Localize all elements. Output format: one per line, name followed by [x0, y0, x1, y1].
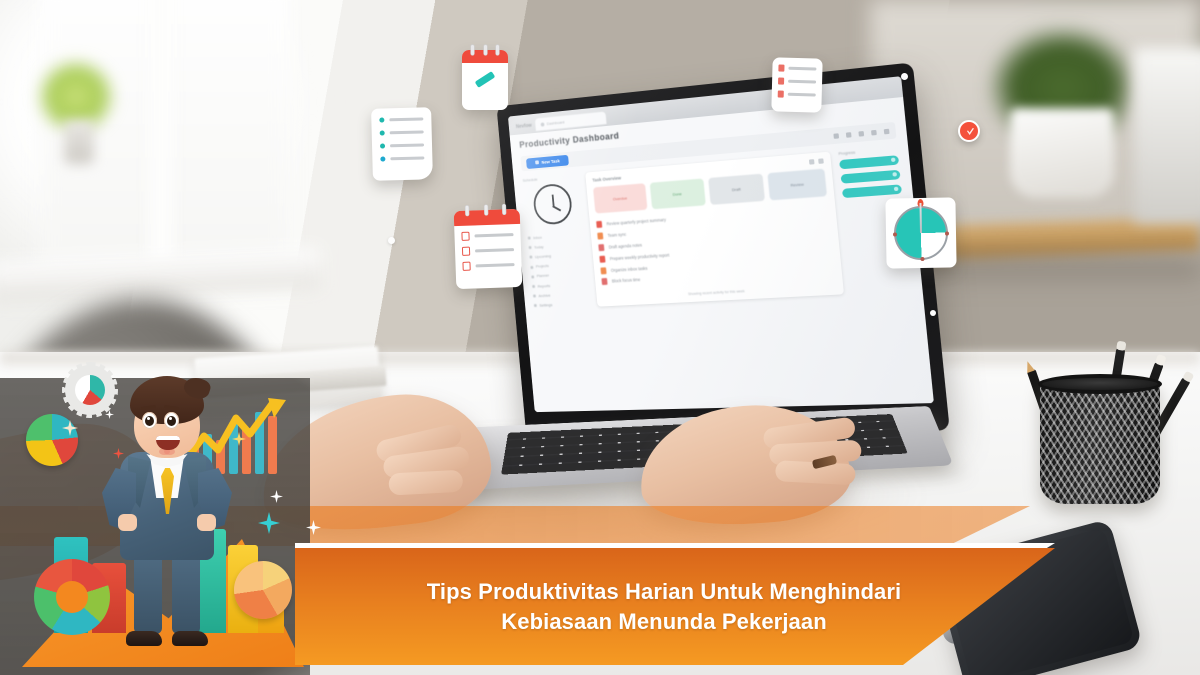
picture-frame: [1134, 48, 1200, 223]
mascot-legs: [132, 554, 202, 636]
cup-body: [1040, 380, 1160, 504]
task-label: Draft agenda notes: [609, 242, 643, 249]
bullet-icon: [380, 130, 385, 135]
tab-favicon-icon: [540, 122, 544, 126]
cup-rim: [1038, 374, 1162, 394]
target-dot: [945, 232, 949, 236]
sidebar: Schedule Inbox Today Upcoming Projects P…: [522, 173, 590, 310]
sidebar-nav: Inbox Today Upcoming Projects Planner Re…: [527, 229, 590, 310]
bullet-icon: [380, 156, 385, 161]
task-icon: [596, 221, 602, 228]
progress-bar: [842, 184, 902, 198]
line: [788, 67, 816, 70]
mascot-shoe: [172, 631, 208, 646]
filter-icon[interactable]: [833, 133, 839, 139]
bullet-icon: [380, 143, 385, 148]
laptop-lid: Nevfow Dashboard Productivity Dashboard …: [496, 62, 949, 437]
target-dot: [920, 257, 924, 261]
mascot-eye: [142, 412, 157, 429]
mesh-pencil-cup: [1040, 352, 1160, 504]
list-item: [778, 91, 816, 99]
expand-icon[interactable]: [809, 159, 815, 165]
task-icon: [599, 255, 605, 262]
more-icon[interactable]: [884, 128, 890, 134]
task-label: Prepare weekly productivity report: [610, 252, 670, 261]
donut-chart: [34, 559, 110, 635]
calendar-rings: [465, 204, 505, 215]
target-dot: [893, 232, 897, 236]
stat-overdue[interactable]: Overdue: [593, 183, 647, 213]
plus-icon: [535, 160, 539, 164]
windowsill-plant: [36, 58, 116, 128]
check-badge-icon: [958, 120, 980, 142]
line: [475, 248, 514, 252]
card-title: Task Overview: [592, 175, 621, 182]
mascot-leg: [134, 554, 162, 634]
task-label: Block focus time: [612, 277, 641, 283]
target-card: [885, 197, 956, 268]
mascot-hand: [118, 514, 137, 531]
screenshot-stage: Nevfow Dashboard Productivity Dashboard …: [0, 0, 1200, 675]
line: [389, 117, 423, 121]
progress-title: Progress: [838, 146, 898, 156]
new-task-label: New Task: [541, 158, 560, 164]
calendar-check-card: [462, 50, 508, 110]
card-footer-note: Showing recent activity for this week: [603, 284, 836, 300]
list-item: [380, 129, 424, 135]
page-title: Tips Produktivitas Harian Untuk Menghind…: [374, 577, 954, 635]
line: [390, 143, 424, 147]
line: [476, 263, 515, 267]
list-item: [379, 116, 423, 122]
check-mark-icon: [475, 71, 496, 88]
sidebar-title: Schedule: [522, 173, 578, 182]
line: [390, 130, 424, 134]
mascot-leg: [172, 554, 200, 634]
browser-tab-label: Dashboard: [547, 120, 565, 127]
decorative-dot: [901, 73, 908, 80]
task-overview-card: Task Overview Overdue Done: [585, 152, 844, 307]
line: [390, 156, 424, 160]
task-icon: [598, 244, 604, 251]
target-compass-icon: [894, 206, 949, 261]
doc-icon: [778, 65, 784, 72]
task-list: Review quarterly project summary Team sy…: [596, 202, 835, 287]
stat-review[interactable]: Review: [768, 169, 827, 201]
stat-draft[interactable]: Draft: [708, 174, 766, 205]
line: [788, 80, 816, 83]
sidebar-item-settings[interactable]: Settings: [534, 298, 591, 311]
main-column: Task Overview Overdue Done: [585, 152, 844, 308]
progress-bar: [841, 170, 901, 184]
checklist-card: [371, 107, 433, 181]
mascot-artwork: [0, 378, 310, 675]
stat-done[interactable]: Done: [649, 179, 705, 210]
bullet-icon: [379, 117, 384, 122]
checkbox-icon: [461, 232, 469, 241]
calendar-rings: [471, 45, 499, 55]
overflow-icon[interactable]: [818, 158, 824, 164]
pie-chart-secondary: [234, 561, 292, 619]
document-card: [771, 57, 822, 112]
task-icon: [601, 278, 607, 285]
clock-icon: [532, 183, 573, 226]
list-item: [380, 142, 424, 148]
card-actions: [809, 158, 824, 164]
calendar-list-card: [454, 209, 523, 289]
windowsill-plant-pot: [64, 120, 94, 164]
line: [788, 93, 816, 96]
pin-icon: [917, 199, 923, 207]
task-label: Organize inbox tasks: [611, 265, 648, 272]
checkbox-icon: [462, 262, 470, 271]
decorative-dot: [930, 310, 936, 316]
checkbox-icon: [462, 247, 470, 256]
dashboard-page: Productivity Dashboard New Task: [510, 97, 934, 412]
banner-title-line-2: Kebiasaan Menunda Pekerjaan: [374, 607, 954, 636]
shelf-plant-pot: [1010, 108, 1114, 198]
dashboard-body: Schedule Inbox Today Upcoming Projects P…: [522, 146, 911, 311]
dashboard-app: Nevfow Dashboard Productivity Dashboard …: [508, 76, 934, 412]
settings-icon[interactable]: [871, 129, 877, 135]
mascot-hand: [197, 514, 216, 531]
progress-bar: [839, 155, 899, 169]
mascot-eye: [164, 412, 179, 429]
list-item: [778, 78, 816, 86]
task-label: Team sync: [607, 232, 626, 238]
task-icon: [597, 233, 603, 240]
doc-icon: [778, 78, 784, 85]
laptop-screen[interactable]: Nevfow Dashboard Productivity Dashboard …: [508, 76, 934, 412]
mascot-shoe: [126, 631, 162, 646]
doc-icon: [778, 91, 784, 98]
list-item: [455, 254, 521, 271]
browser-brand: Nevfow: [516, 123, 532, 133]
list-item: [778, 65, 816, 73]
gear-inner-pie: [75, 375, 105, 405]
list-item: [380, 155, 424, 161]
decorative-dot: [388, 237, 395, 244]
line: [474, 233, 513, 237]
task-label: Review quarterly project summary: [606, 218, 666, 227]
businessman-mascot: [104, 376, 230, 648]
new-task-button[interactable]: New Task: [526, 154, 569, 168]
toolbar-icons: [833, 128, 889, 138]
banner-title-line-1: Tips Produktivitas Harian Untuk Menghind…: [374, 577, 954, 606]
sort-icon[interactable]: [846, 132, 852, 138]
share-icon[interactable]: [858, 131, 864, 137]
window-mullion: [148, 0, 174, 265]
task-icon: [600, 267, 606, 274]
